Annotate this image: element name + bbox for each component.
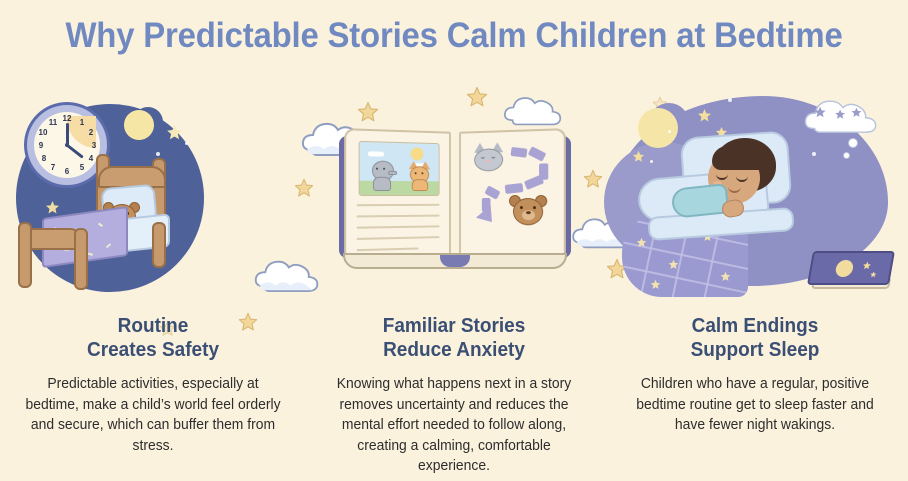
column-2-heading-line1: Familiar Stories <box>383 315 526 337</box>
book-spine-notch <box>440 255 470 267</box>
star-icon <box>45 200 60 215</box>
book-cover-star-icon <box>869 271 877 278</box>
arrow-segment <box>505 183 524 194</box>
column-2-heading: Familiar Stories Reduce Anxiety <box>311 314 598 363</box>
column-1-body: Predictable activities, especially at be… <box>21 374 284 456</box>
clock-number-1: 1 <box>77 118 87 127</box>
star-icon <box>632 150 645 163</box>
clock-number-9: 9 <box>36 141 46 150</box>
star-dot <box>668 130 671 133</box>
clock-number-5: 5 <box>77 163 87 172</box>
star-icon <box>697 108 712 123</box>
book-page-right <box>459 128 566 264</box>
bear-icon <box>509 194 547 229</box>
column-calm-endings-support-sleep: Calm Endings Support Sleep Children who … <box>604 82 906 481</box>
clock-number-11: 11 <box>48 118 58 127</box>
clock-number-7: 7 <box>48 163 58 172</box>
column-1-heading-line2: Creates Safety <box>87 339 219 361</box>
sleeping-child <box>700 138 782 220</box>
dream-bubble <box>848 138 858 148</box>
cat-icon <box>472 142 505 172</box>
clock-number-12: 12 <box>62 114 72 123</box>
infographic-canvas: Why Predictable Stories Calm Children at… <box>0 0 908 481</box>
column-familiar-stories-reduce-anxiety: Familiar Stories Reduce Anxiety Knowing … <box>303 82 605 481</box>
star-dot <box>650 160 653 163</box>
crescent-moon-icon <box>638 108 678 148</box>
illustration-sleeping-child <box>604 82 906 307</box>
child-hands <box>721 198 746 219</box>
open-book <box>339 124 571 269</box>
column-3-body: Children who have a regular, positive be… <box>623 374 886 436</box>
column-3-heading-line2: Support Sleep <box>691 339 820 361</box>
book-text-line <box>357 204 440 206</box>
arrow-head <box>476 205 499 228</box>
clock-number-4: 4 <box>86 154 96 163</box>
star-dot <box>156 152 160 156</box>
star-dot <box>185 142 188 145</box>
cloud-icon <box>368 151 384 156</box>
child-fringe <box>712 146 768 170</box>
star-dot <box>728 98 732 102</box>
clock-face: 12 1 2 3 4 5 6 7 8 9 10 11 <box>34 112 100 178</box>
column-3-heading-line1: Calm Endings <box>692 315 819 337</box>
book-text-line <box>357 247 419 250</box>
column-2-body: Knowing what happens next in a story rem… <box>322 374 585 477</box>
clock-number-10: 10 <box>38 128 48 137</box>
arrow-segment <box>528 146 547 161</box>
column-routine-creates-safety: 12 1 2 3 4 5 6 7 8 9 10 11 <box>2 82 304 481</box>
clock-number-8: 8 <box>39 154 49 163</box>
bed-post-front-right <box>74 228 88 290</box>
dream-cloud-icon <box>800 94 882 134</box>
child-pajama-sleeve <box>671 183 730 219</box>
clock-number-3: 3 <box>89 141 99 150</box>
book-cover <box>807 251 895 285</box>
book-text-line <box>357 236 440 239</box>
arrow-segment <box>510 147 527 158</box>
column-1-heading-line1: Routine <box>118 315 189 337</box>
bed-post-mid <box>152 222 166 268</box>
clock-number-2: 2 <box>86 128 96 137</box>
book-cover-star-icon <box>862 261 873 270</box>
story-scene-illustration <box>359 141 440 196</box>
star-icon <box>166 124 183 141</box>
arrow-segment <box>524 175 544 190</box>
clock-number-6: 6 <box>62 167 72 176</box>
column-3-heading: Calm Endings Support Sleep <box>612 314 899 363</box>
bedtime-book <box>810 251 892 293</box>
column-1-heading: Routine Creates Safety <box>10 314 297 363</box>
book-text-line <box>357 215 440 217</box>
column-2-heading-line2: Reduce Anxiety <box>383 339 525 361</box>
sun-icon <box>411 147 424 160</box>
book-cover-moon-icon <box>834 260 854 277</box>
book-page-left <box>344 128 451 264</box>
bed-post-front-left <box>18 222 32 288</box>
crescent-moon-icon <box>124 110 154 140</box>
fox-icon <box>408 161 431 191</box>
illustration-night-bedroom: 12 1 2 3 4 5 6 7 8 9 10 11 <box>2 82 304 307</box>
book-text-line <box>357 225 440 228</box>
clock-center-pin <box>65 143 69 147</box>
star-dot <box>812 152 816 156</box>
elephant-icon <box>370 160 396 191</box>
dream-bubble <box>843 152 850 159</box>
clock-hand-hour <box>66 123 69 145</box>
clock-hand-minute <box>66 144 83 158</box>
illustration-open-storybook <box>303 82 605 307</box>
columns-container: 12 1 2 3 4 5 6 7 8 9 10 11 <box>0 0 908 481</box>
